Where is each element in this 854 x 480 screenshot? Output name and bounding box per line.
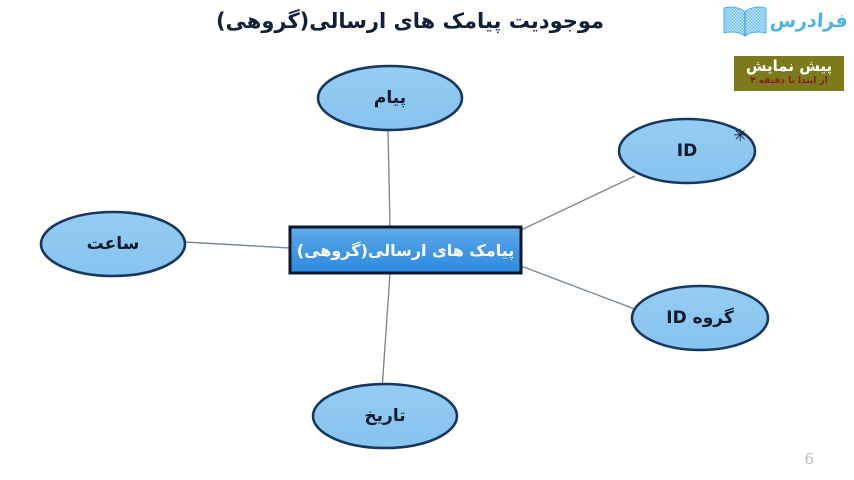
asterisk-key-marker: ✳: [733, 128, 747, 145]
attribute-ellipse-group-id[interactable]: [632, 286, 768, 350]
attribute-ellipse-payam[interactable]: [318, 66, 462, 130]
connector-tarikh: [382, 273, 390, 390]
entity-box[interactable]: [290, 227, 521, 273]
connector-payam: [388, 130, 390, 227]
connector-group-id: [521, 266, 640, 311]
slide-canvas: موجودیت پیامک های ارسالی(گروهی): [0, 0, 854, 480]
page-number: 6: [804, 450, 814, 468]
nodes-layer: [41, 66, 768, 448]
attribute-ellipse-tarikh[interactable]: [313, 384, 457, 448]
connector-id: [521, 176, 635, 230]
attribute-ellipse-saat[interactable]: [41, 212, 185, 276]
connector-saat: [185, 242, 290, 248]
er-diagram: [0, 0, 854, 480]
